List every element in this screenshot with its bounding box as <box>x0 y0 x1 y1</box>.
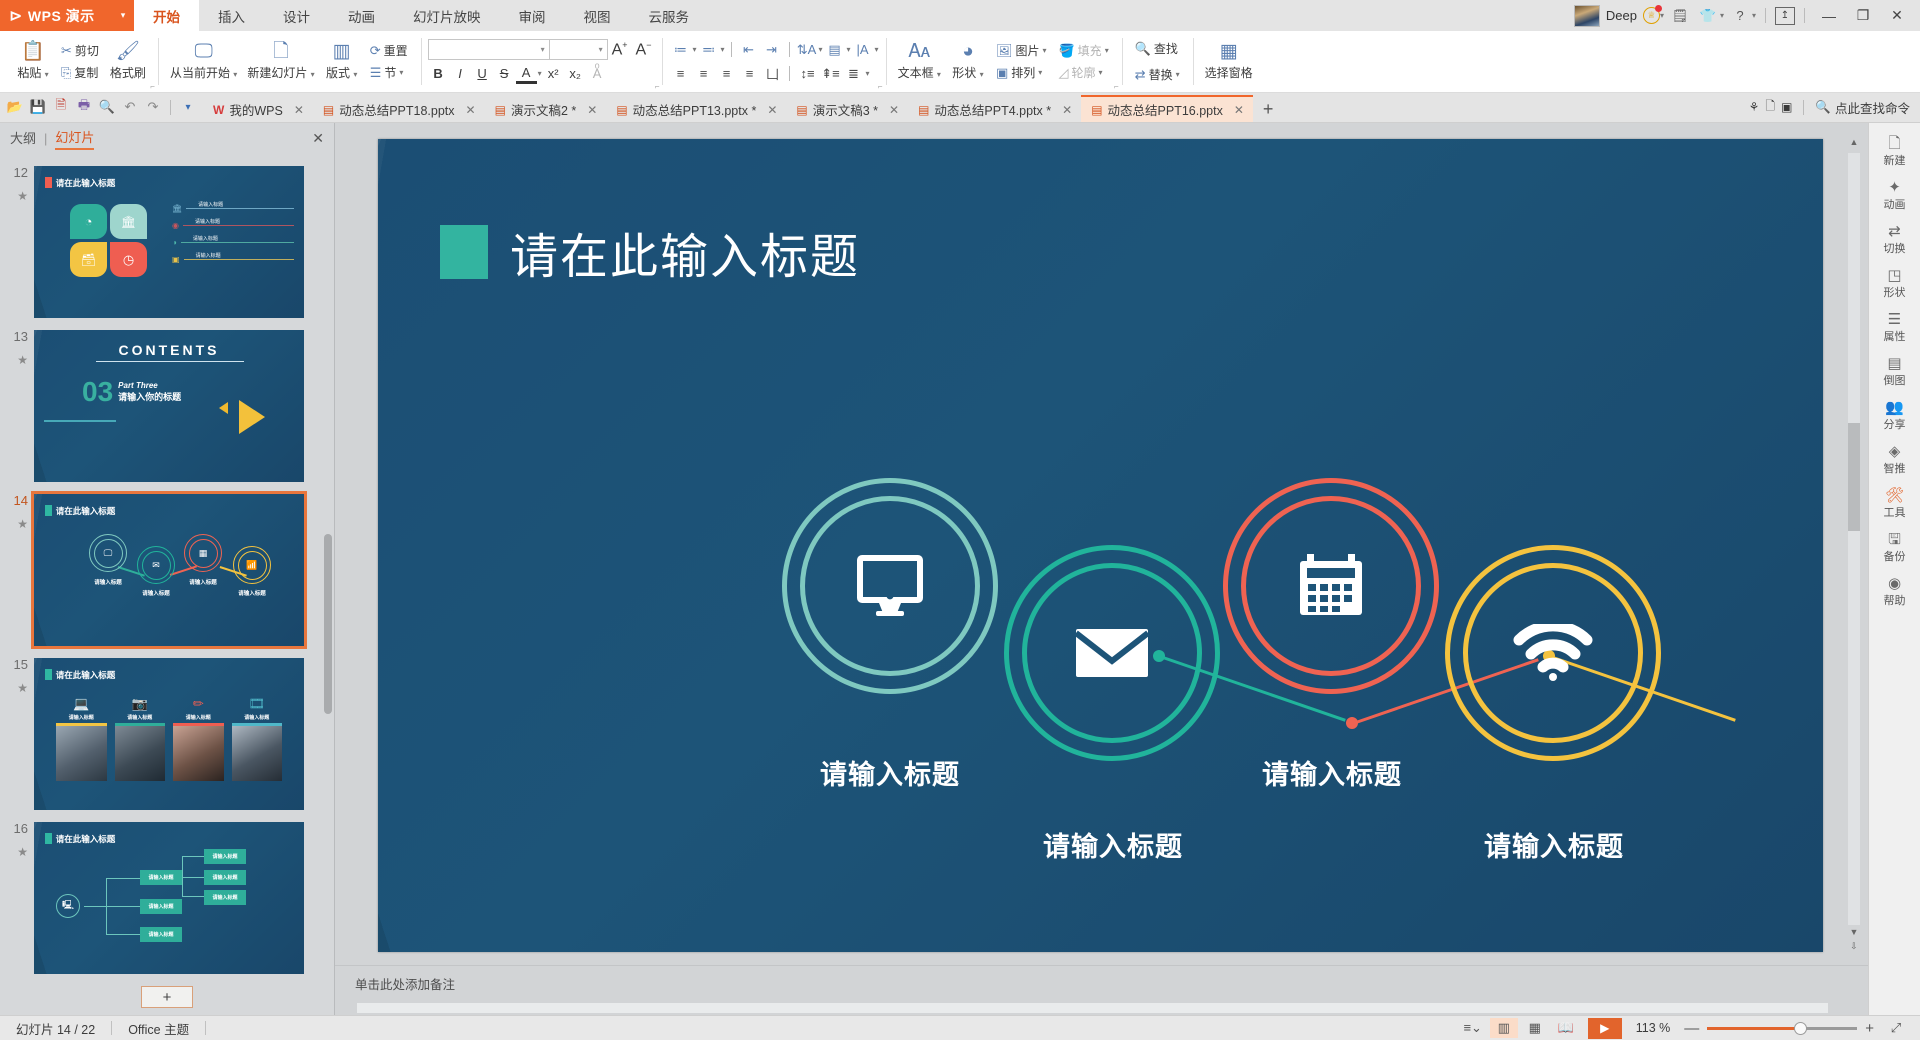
app-brand[interactable]: ⊳ WPS 演示 <box>0 0 112 31</box>
slide-sorter-button[interactable]: ▦ <box>1521 1018 1549 1038</box>
title-divider-2 <box>1804 8 1805 23</box>
doctab-close-icon[interactable]: ✕ <box>587 103 597 117</box>
thumbnail-slide-13[interactable]: CONTENTS 03 Part Three 请输入你的标题 <box>34 330 304 482</box>
node-wifi[interactable] <box>1445 545 1661 761</box>
smart-align-caret-icon[interactable]: ▾ <box>865 69 869 78</box>
pencil-icon: ✏ <box>193 696 204 712</box>
tree-line <box>182 896 204 897</box>
title-accent-square <box>45 833 52 844</box>
animation-icon: ✦ <box>1888 180 1901 195</box>
cut-button[interactable]: ✂ 剪切 <box>58 41 102 60</box>
align-text-button[interactable]: ▤ <box>824 39 846 60</box>
font-size-select[interactable]: ▾ <box>550 39 608 60</box>
title-bar: ⊳ WPS 演示 ▾ 开始 插入 设计 动画 幻灯片放映 审阅 视图 云服务 D… <box>0 0 1920 31</box>
play-from-current-icon: 🖵 <box>194 42 212 62</box>
wps-presentation-window: ⊳ WPS 演示 ▾ 开始 插入 设计 动画 幻灯片放映 审阅 视图 云服务 D… <box>0 0 1920 1040</box>
node-envelope[interactable] <box>1004 545 1220 761</box>
fill-bucket-icon: 🪣 <box>1058 43 1074 59</box>
format-painter-button[interactable]: 🖌 格式刷 <box>105 31 151 92</box>
text-box-icon: 🗛 <box>908 42 930 62</box>
mini-ring-envelope: ✉ <box>137 546 175 584</box>
shape-icon: ◕ <box>962 42 973 62</box>
slide-vertical-scrollbar[interactable]: ▲ ▼ ⇩ <box>1846 137 1862 955</box>
help-question-icon[interactable]: ? <box>1728 4 1752 28</box>
laptop-icon: 🖳 <box>56 894 80 918</box>
ribbon-group-editing: 🔍 查找 ⇄ 替换▾ <box>1122 31 1193 92</box>
skin-caret-icon[interactable]: ▾ <box>1720 11 1724 20</box>
camera-icon: 📷 <box>132 696 148 712</box>
align-right-button[interactable]: ≡ <box>715 63 737 84</box>
user-name-label: Deep <box>1604 8 1639 23</box>
thumb-number: 12 <box>14 165 28 180</box>
menu-item-slideshow[interactable]: 幻灯片放映 <box>394 0 500 31</box>
workspace: 大纲 | 幻灯片 ✕ 12 ★ 请在此输入标题 <box>0 123 1920 1015</box>
mini-node-label: 请输入标题 <box>94 578 122 586</box>
outline-button[interactable]: ◿ 轮廓▾ <box>1055 63 1111 82</box>
section-button[interactable]: ☰ 节 ▾ <box>367 63 411 82</box>
font-dialog-launcher[interactable]: ⌐ <box>655 82 660 91</box>
align-center-button[interactable]: ≡ <box>692 63 714 84</box>
zoom-knob[interactable] <box>1794 1022 1807 1035</box>
smart-recommend-icon: ◈ <box>1889 444 1901 459</box>
open-icon[interactable]: 📂 <box>4 96 26 118</box>
tree-node: 请输入标题 <box>140 870 182 885</box>
replace-button[interactable]: ⇄ 替换▾ <box>1132 65 1183 84</box>
scrollbar-track[interactable] <box>1848 153 1860 925</box>
next-slide-icon[interactable]: ⇩ <box>1850 941 1858 955</box>
upload-cloud-icon[interactable]: ↥ <box>1775 7 1795 25</box>
thumb-number: 16 <box>14 821 28 836</box>
bullets-caret-icon[interactable]: ▾ <box>692 45 696 54</box>
scroll-up-icon[interactable]: ▲ <box>1850 137 1859 151</box>
properties-icon: ☰ <box>1888 312 1901 327</box>
thumb-title: 请在此输入标题 <box>45 833 116 845</box>
member-crown-icon[interactable]: ♕ <box>1643 7 1660 24</box>
ribbon-group-font: ▾ ▾ A+ A− B I U S A ▾ x² <box>421 31 663 92</box>
zoom-fill <box>1707 1027 1800 1030</box>
photo-label: 请输入标题 <box>127 714 152 721</box>
slide-title-text: 请在此输入标题 <box>510 217 860 287</box>
undo-icon[interactable]: ↶ <box>119 96 141 118</box>
slide-title[interactable]: 请在此输入标题 <box>440 217 860 287</box>
menu-item-design[interactable]: 设计 <box>264 0 329 31</box>
search-icon: 🔍 <box>1135 41 1151 57</box>
mini-node-label: 请输入标题 <box>238 589 266 597</box>
scrollbar-track[interactable] <box>357 1003 1828 1013</box>
transition-icon: ⇄ <box>1888 224 1901 239</box>
shrink-font-button[interactable]: A− <box>632 40 656 59</box>
mini-node-label: 请输入标题 <box>142 589 170 597</box>
menu-item-view[interactable]: 视图 <box>565 0 630 31</box>
node-label-calendar: 请输入标题 <box>1262 753 1402 792</box>
zoom-in-button[interactable]: + <box>1860 1020 1879 1037</box>
from-current-slide-button[interactable]: 🖵 从当前开始 ▾ <box>165 31 242 92</box>
search-icon: 🔍 <box>1815 100 1831 115</box>
menu-item-animation[interactable]: 动画 <box>329 0 394 31</box>
text-direction-caret-icon[interactable]: ▾ <box>819 45 823 54</box>
thumbnail-list[interactable]: 12 ★ 请在此输入标题 ◔ 🏛 🗃 ◷ <box>0 154 334 979</box>
slide-counter: 幻灯片 14 / 22 <box>0 1019 111 1038</box>
font-color-button[interactable]: A <box>516 63 537 84</box>
picture-icon: 🖼 <box>996 43 1013 59</box>
normal-view-button[interactable]: ▥ <box>1490 1018 1518 1038</box>
doctab-close-icon[interactable]: ✕ <box>466 103 476 117</box>
laptop-icon: 💻 <box>73 696 89 712</box>
rail-item-help[interactable]: ◉ 帮助 <box>1869 571 1920 613</box>
node-label-wifi: 请输入标题 <box>1484 825 1624 864</box>
layout-icon: ▥ <box>333 42 351 62</box>
minimize-button[interactable]: — <box>1814 1 1844 31</box>
doctab-presentation3[interactable]: ▤ 演示文稿3 * ✕ <box>786 97 908 122</box>
picture-button[interactable]: 🖼 图片▾ <box>993 41 1050 60</box>
doctab-ppt16[interactable]: ▤ 动态总结PPT16.pptx ✕ <box>1081 95 1253 122</box>
tree-line <box>84 906 106 907</box>
document-tab-bar: 📂 💾 🗎 🖶 🔍 ↶ ↷ ▾ W 我的WPS ✕ ▤ 动态总结PPT18.pp… <box>0 93 1920 123</box>
triangle-icon <box>219 402 228 414</box>
rail-item-animation[interactable]: ✦ 动画 <box>1869 175 1920 217</box>
tab-list-icon[interactable]: ▣ <box>1781 100 1792 114</box>
node-monitor[interactable] <box>782 478 998 694</box>
copy-button[interactable]: ⎘ 复制 <box>58 63 102 82</box>
outline-view-button[interactable]: ≡⌄ <box>1459 1018 1487 1038</box>
rail-item-share[interactable]: 👥 分享 <box>1869 395 1920 437</box>
scrollbar-thumb[interactable] <box>1848 423 1860 531</box>
slides-panel-header: 大纲 | 幻灯片 ✕ <box>0 123 334 154</box>
strikethrough-button[interactable]: S <box>494 63 515 84</box>
rail-item-shape[interactable]: ◳ 形状 <box>1869 263 1920 305</box>
copy-icon: ⎘ <box>61 65 71 81</box>
line-spacing-button[interactable]: ↕≡ <box>796 63 818 84</box>
calendar-icon <box>1298 554 1364 618</box>
doctab-presentation2[interactable]: ▤ 演示文稿2 * ✕ <box>485 97 607 122</box>
paragraph-spacing-button[interactable]: ⇞≡ <box>819 63 841 84</box>
close-button[interactable]: ✕ <box>1882 1 1912 31</box>
tree-line <box>106 878 140 879</box>
brand-dropdown-caret-icon[interactable]: ▾ <box>112 0 134 31</box>
zoom-slider[interactable] <box>1707 1021 1857 1035</box>
title-accent-square <box>45 177 52 188</box>
italic-button[interactable]: I <box>450 63 471 84</box>
legend-lines: 🏛请输入标题 ◉请输入标题 ◑请输入标题 ▣请输入标题 <box>172 204 294 264</box>
connector-dot <box>1346 717 1358 729</box>
tree-node: 请输入标题 <box>140 927 182 942</box>
selection-pane-icon: ▦ <box>1220 42 1238 62</box>
paste-icon: 📋 <box>21 42 45 62</box>
new-slide-button[interactable]: 🗋 新建幻灯片 ▾ <box>242 31 319 92</box>
underline-button[interactable]: U <box>472 63 493 84</box>
contents-rule <box>96 361 244 362</box>
scissors-icon: ✂ <box>61 43 72 59</box>
zoom-out-button[interactable]: — <box>1679 1020 1704 1037</box>
rail-item-properties[interactable]: ☰ 属性 <box>1869 307 1920 349</box>
docer-vip-icon[interactable]: 🗒 <box>1668 4 1692 28</box>
photo-row: 💻 请输入标题 📷 请输入标题 ✏ 请输入标题 <box>56 696 282 781</box>
app-brand-label: WPS 演示 <box>28 6 95 26</box>
restore-button[interactable]: ❐ <box>1848 1 1878 31</box>
tree-line <box>182 877 204 878</box>
layout-button[interactable]: ▥ 版式 ▾ <box>320 31 364 92</box>
numbering-caret-icon[interactable]: ▾ <box>721 45 725 54</box>
bullets-button[interactable]: ≔ <box>669 39 691 60</box>
envelope-icon <box>1074 625 1150 681</box>
ppt-file-icon: ▤ <box>918 103 929 117</box>
right-task-rail: 🗋 新建 ✦ 动画 ⇄ 切换 ◳ 形状 ☰ 属性 ▤ 倒图 <box>1868 123 1920 1015</box>
tree-node: 请输入标题 <box>140 899 182 914</box>
title-divider <box>1765 8 1766 23</box>
contents-underline <box>44 420 116 422</box>
selection-pane-button[interactable]: ▦ 选择窗格 <box>1200 31 1258 92</box>
avatar[interactable] <box>1574 5 1600 27</box>
petal-group: ◔ 🏛 🗃 ◷ <box>70 204 148 278</box>
add-slide-button[interactable]: + <box>141 986 193 1008</box>
thumbnail-slide-14[interactable]: 请在此输入标题 🖵 ✉ ▦ <box>34 494 304 646</box>
justify-button[interactable]: ≡ <box>738 63 760 84</box>
doctab-close-icon[interactable]: ✕ <box>1062 103 1072 117</box>
tree-node: 请输入标题 <box>204 849 246 864</box>
theme-name: Office 主题 <box>112 1019 205 1038</box>
box-icon: 🗃 <box>70 242 107 277</box>
tab-outline[interactable]: 大纲 <box>10 128 36 149</box>
doctab-close-icon[interactable]: ✕ <box>294 103 304 117</box>
horizontal-scrollbar[interactable] <box>335 1001 1868 1015</box>
font-color-caret-icon[interactable]: ▾ <box>538 69 542 78</box>
tab-slides[interactable]: 幻灯片 <box>55 127 94 150</box>
ribbon-group-selection: ▦ 选择窗格 <box>1193 31 1265 92</box>
distribute-button[interactable]: 凵 <box>761 63 783 84</box>
new-slide-icon: 🗋 <box>273 42 288 62</box>
redo-icon[interactable]: ↷ <box>142 96 164 118</box>
title-bar-right: Deep ♕ ▾ 🗒 👕 ▾ ? ▾ ↥ — ❐ ✕ <box>1574 0 1920 31</box>
smart-align-button[interactable]: ≣ <box>842 63 864 84</box>
animation-star-icon: ★ <box>8 682 28 695</box>
columns-button[interactable]: |A <box>852 39 874 60</box>
menu-item-start[interactable]: 开始 <box>134 0 199 31</box>
rail-item-transition[interactable]: ⇄ 切换 <box>1869 219 1920 261</box>
paste-button[interactable]: 📋 粘贴 ▾ <box>11 31 55 92</box>
wps-home-icon: W <box>213 103 224 117</box>
monitor-icon <box>854 555 926 617</box>
pie-chart-icon: ◔ <box>70 204 107 239</box>
ribbon-group-paragraph: ≔ ▾ ≕ ▾ ⇤ ⇥ ⇅A ▾ ▤ ▾ |A ▾ ≡ ≡ <box>662 31 885 92</box>
envelope-icon: ✉ <box>142 551 171 580</box>
ppt-file-icon: ▤ <box>1091 103 1102 117</box>
doc-compare-icon[interactable]: 🗋 <box>1765 97 1775 118</box>
section-icon: ☰ <box>370 65 382 81</box>
start-slideshow-button[interactable]: ▶ <box>1588 1018 1622 1039</box>
mini-node-label: 请输入标题 <box>189 578 217 586</box>
rail-item-chart[interactable]: ▤ 倒图 <box>1869 351 1920 393</box>
columns-caret-icon[interactable]: ▾ <box>875 45 879 54</box>
scrollbar-thumb[interactable] <box>324 534 332 714</box>
chart-icon: ▤ <box>1887 356 1901 371</box>
contents-part: 03 Part Three 请输入你的标题 <box>82 378 181 406</box>
animation-star-icon: ★ <box>8 354 28 367</box>
thumb-number: 15 <box>14 657 28 672</box>
thumbnail-slide-15[interactable]: 请在此输入标题 💻 请输入标题 📷 请输入标题 <box>34 658 304 810</box>
share-icon: 👥 <box>1885 400 1904 415</box>
tree-line <box>106 934 140 935</box>
doctab-close-icon[interactable]: ✕ <box>1234 103 1244 117</box>
slide-canvas-area: 请在此输入标题 <box>335 123 1868 965</box>
triangle-icon <box>239 400 265 434</box>
find-command-box[interactable]: 🔍 点此查找命令 <box>1815 98 1910 117</box>
find-button[interactable]: 🔍 查找 <box>1132 39 1183 58</box>
animation-star-icon: ★ <box>8 846 28 859</box>
replace-icon: ⇄ <box>1135 67 1146 83</box>
menu-bar: 开始 插入 设计 动画 幻灯片放映 审阅 视图 云服务 <box>134 0 708 31</box>
new-tab-button[interactable]: + <box>1253 97 1284 122</box>
notes-pane[interactable]: 单击此处添加备注 <box>335 965 1868 1001</box>
doctab-ppt4[interactable]: ▤ 动态总结PPT4.pptx * ✕ <box>908 97 1081 122</box>
align-text-caret-icon[interactable]: ▾ <box>847 45 851 54</box>
font-name-select[interactable]: ▾ <box>428 39 550 60</box>
shape-icon: ◳ <box>1887 268 1901 283</box>
list-item[interactable]: 13 ★ CONTENTS 03 Part Three 请输入你的标题 <box>0 324 334 488</box>
tree-node: 请输入标题 <box>204 870 246 885</box>
part-number: 03 <box>82 378 113 406</box>
reading-view-button[interactable]: 📖 <box>1552 1018 1580 1038</box>
list-item[interactable]: 14 ★ 请在此输入标题 <box>0 488 334 652</box>
wifi-icon <box>1513 624 1593 682</box>
ppt-file-icon: ▤ <box>495 103 506 117</box>
status-bar: 幻灯片 14 / 22 Office 主题 ≡⌄ ▥ ▦ 📖 ▶ 113 % —… <box>0 1015 1920 1040</box>
decrease-indent-button[interactable]: ⇤ <box>738 39 760 60</box>
reset-icon: ⟳ <box>370 43 381 59</box>
tree-line <box>182 856 183 896</box>
customize-caret-icon[interactable]: ▾ <box>177 96 199 118</box>
video-icon: 🎞 <box>248 696 265 712</box>
print-icon[interactable]: 🖶 <box>73 96 95 118</box>
current-slide[interactable]: 请在此输入标题 <box>378 139 1823 952</box>
list-item[interactable]: 15 ★ 请在此输入标题 💻 请输入标题 <box>0 652 334 816</box>
mini-ring-calendar: ▦ <box>184 534 222 572</box>
arrange-button[interactable]: ▣ 排列▾ <box>993 63 1050 82</box>
photo-label: 请输入标题 <box>244 714 269 721</box>
thumb-title: 请在此输入标题 <box>45 505 116 517</box>
thumbnail-scrollbar[interactable] <box>324 162 332 971</box>
monitor-icon: 🖵 <box>94 539 123 568</box>
fit-window-button[interactable]: ⤢ <box>1882 1018 1910 1038</box>
tree-node: 请输入标题 <box>204 890 246 905</box>
ribbon-group-clipboard: 📋 粘贴 ▾ ✂ 剪切 ⎘ 复制 🖌 格式刷 ⌐ <box>4 31 158 92</box>
clipboard-dialog-launcher[interactable]: ⌐ <box>150 82 155 91</box>
export-pdf-icon[interactable]: 🗎 <box>50 96 72 118</box>
node-label-monitor: 请输入标题 <box>820 753 960 792</box>
clock-icon: ◷ <box>110 242 147 277</box>
outline-pen-icon: ◿ <box>1058 65 1068 81</box>
thumb-number: 13 <box>14 329 28 344</box>
paintbrush-icon: 🖌 <box>116 42 140 62</box>
menu-item-review[interactable]: 审阅 <box>500 0 565 31</box>
text-direction-button[interactable]: ⇅A <box>796 39 818 60</box>
rail-item-backup[interactable]: 🖫 备份 <box>1869 527 1920 569</box>
slides-panel: 大纲 | 幻灯片 ✕ 12 ★ 请在此输入标题 <box>0 123 335 1015</box>
help-caret-icon[interactable]: ▾ <box>1752 11 1756 20</box>
new-doc-icon: 🗋 <box>1888 136 1900 151</box>
animation-star-icon: ★ <box>8 190 28 203</box>
add-slide-area: + <box>0 979 334 1015</box>
reset-button[interactable]: ⟳ 重置 <box>367 41 411 60</box>
paragraph-dialog-launcher[interactable]: ⌐ <box>878 82 883 91</box>
subscript-button[interactable]: x₂ <box>565 63 586 84</box>
increase-indent-button[interactable]: ⇥ <box>761 39 783 60</box>
scroll-down-icon[interactable]: ▼ <box>1850 927 1859 941</box>
doctab-close-icon[interactable]: ✕ <box>767 103 777 117</box>
slide-editor: 请在此输入标题 <box>335 123 1868 1015</box>
bold-button[interactable]: B <box>428 63 449 84</box>
photo-label: 请输入标题 <box>186 714 211 721</box>
fill-button[interactable]: 🪣 填充▾ <box>1055 41 1111 60</box>
font-name-caret-icon: ▾ <box>541 45 545 54</box>
ribbon-group-insert: 🗛 文本框 ▾ ◕ 形状 ▾ 🖼 图片▾ ▣ 排列▾ 🪣 <box>886 31 1122 92</box>
doctab-ppt13[interactable]: ▤ 动态总结PPT13.pptx * ✕ <box>606 97 786 122</box>
save-icon[interactable]: 💾 <box>27 96 49 118</box>
grow-font-button[interactable]: A+ <box>608 40 632 59</box>
title-accent-square <box>45 505 52 516</box>
rail-item-new[interactable]: 🗋 新建 <box>1869 131 1920 173</box>
zoom-level-label: 113 % <box>1630 1021 1677 1035</box>
numbering-button[interactable]: ≕ <box>698 39 720 60</box>
list-item[interactable]: 12 ★ 请在此输入标题 ◔ 🏛 🗃 ◷ <box>0 160 334 324</box>
panel-divider: | <box>44 131 47 146</box>
node-calendar[interactable] <box>1223 478 1439 694</box>
doctab-close-icon[interactable]: ✕ <box>889 103 899 117</box>
print-preview-icon[interactable]: 🔍 <box>96 96 118 118</box>
mini-ring-wifi: 📶 <box>233 546 271 584</box>
thumbnail-slide-12[interactable]: 请在此输入标题 ◔ 🏛 🗃 ◷ 🏛请输入标题 ◉请输入标题 ◑请输入标题 <box>34 166 304 318</box>
superscript-button[interactable]: x² <box>543 63 564 84</box>
shape-button[interactable]: ◕ 形状 ▾ <box>946 31 990 92</box>
insert-dialog-launcher[interactable]: ⌐ <box>1114 82 1119 91</box>
ppt-file-icon: ▤ <box>323 103 334 117</box>
clear-format-button[interactable]: Aͦ <box>587 63 608 84</box>
account-caret-icon[interactable]: ▾ <box>1660 11 1664 20</box>
ppt-file-icon: ▤ <box>616 103 627 117</box>
tools-icon: 🛠 <box>1885 488 1904 503</box>
text-box-button[interactable]: 🗛 文本框 ▾ <box>893 31 946 92</box>
photo-label: 请输入标题 <box>69 714 94 721</box>
quick-access-toolbar: 📂 💾 🗎 🖶 🔍 ↶ ↷ ▾ <box>0 92 203 122</box>
title-accent-square <box>440 225 488 279</box>
wps-logo-icon: ⊳ <box>9 6 23 26</box>
close-panel-icon[interactable]: ✕ <box>312 130 324 147</box>
rail-item-tools[interactable]: 🛠 工具 <box>1869 483 1920 525</box>
wifi-icon: 📶 <box>238 551 267 580</box>
title-accent-square <box>45 669 52 680</box>
font-size-caret-icon: ▾ <box>599 45 603 54</box>
menu-item-insert[interactable]: 插入 <box>199 0 264 31</box>
tree-line <box>182 856 204 857</box>
list-item[interactable]: 16 ★ 请在此输入标题 🖳 <box>0 816 334 979</box>
collaboration-icon[interactable]: ⚘ <box>1749 100 1760 114</box>
thumb-title: 请在此输入标题 <box>45 669 116 681</box>
part-label: Part Three <box>118 381 181 390</box>
calendar-icon: ▦ <box>189 539 218 568</box>
help-icon: ◉ <box>1888 576 1901 591</box>
tab-bar-right: ⚘ 🗋 ▣ 🔍 点此查找命令 <box>1739 92 1920 122</box>
menu-item-cloud[interactable]: 云服务 <box>630 0 709 31</box>
node-label-envelope: 请输入标题 <box>1043 825 1183 864</box>
doctab-ppt18[interactable]: ▤ 动态总结PPT18.pptx ✕ <box>313 97 485 122</box>
skin-icon[interactable]: 👕 <box>1696 4 1720 28</box>
bank-icon: 🏛 <box>110 204 147 239</box>
doctab-my-wps[interactable]: W 我的WPS ✕ <box>203 97 313 122</box>
arrange-icon: ▣ <box>996 65 1008 81</box>
animation-star-icon: ★ <box>8 518 28 531</box>
align-left-button[interactable]: ≡ <box>669 63 691 84</box>
rail-item-smart[interactable]: ◈ 智推 <box>1869 439 1920 481</box>
thumbnail-slide-16[interactable]: 请在此输入标题 🖳 请输入标题 请输入标题 请输入标题 <box>34 822 304 974</box>
